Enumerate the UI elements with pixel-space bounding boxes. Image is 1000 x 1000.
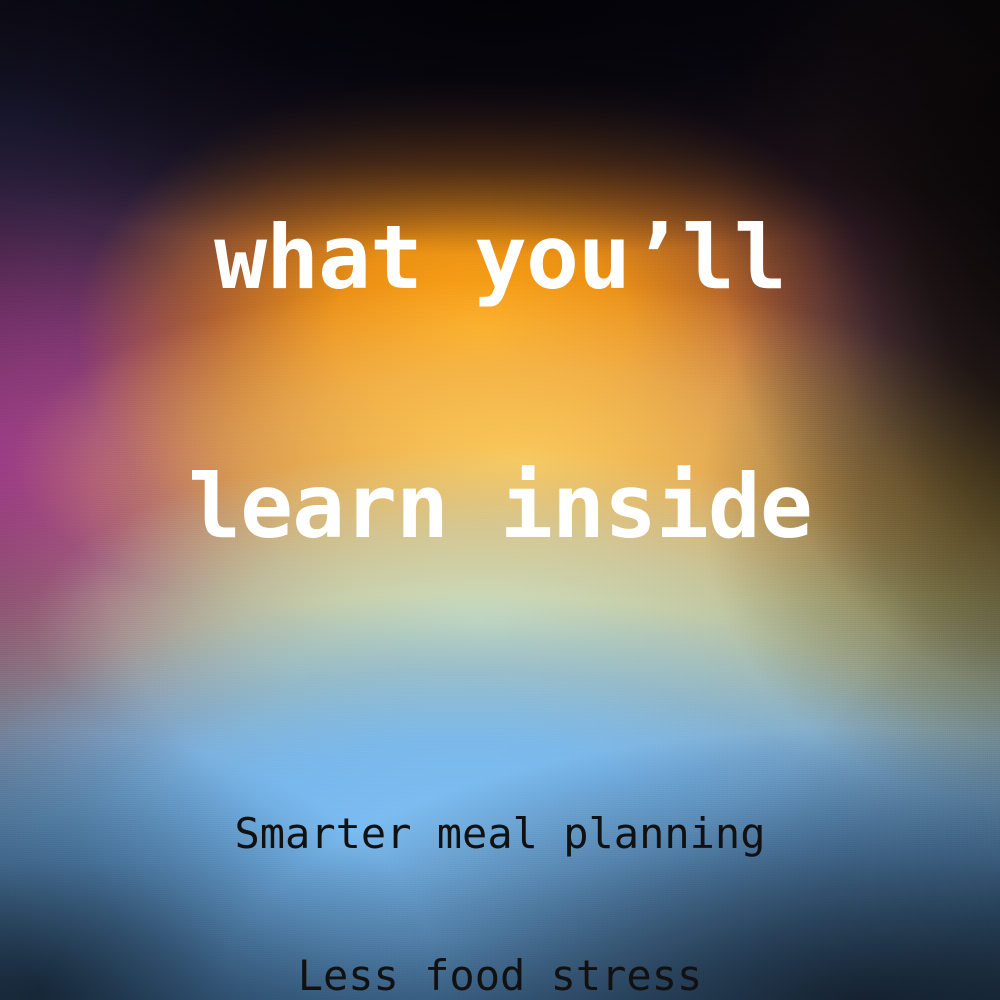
list-item: Less food stress [0,955,1000,1000]
benefit-list: Smarter meal planning Less food stress G… [0,813,1000,1000]
page-title-line-1: what you’ll [0,217,1000,300]
social-graphic-canvas: what you’ll learn inside Smarter meal pl… [0,0,1000,1000]
page-title: what you’ll learn inside [0,52,1000,714]
list-item: Smarter meal planning [0,813,1000,955]
page-title-line-2: learn inside [0,466,1000,549]
content-stack: what you’ll learn inside Smarter meal pl… [0,0,1000,1000]
